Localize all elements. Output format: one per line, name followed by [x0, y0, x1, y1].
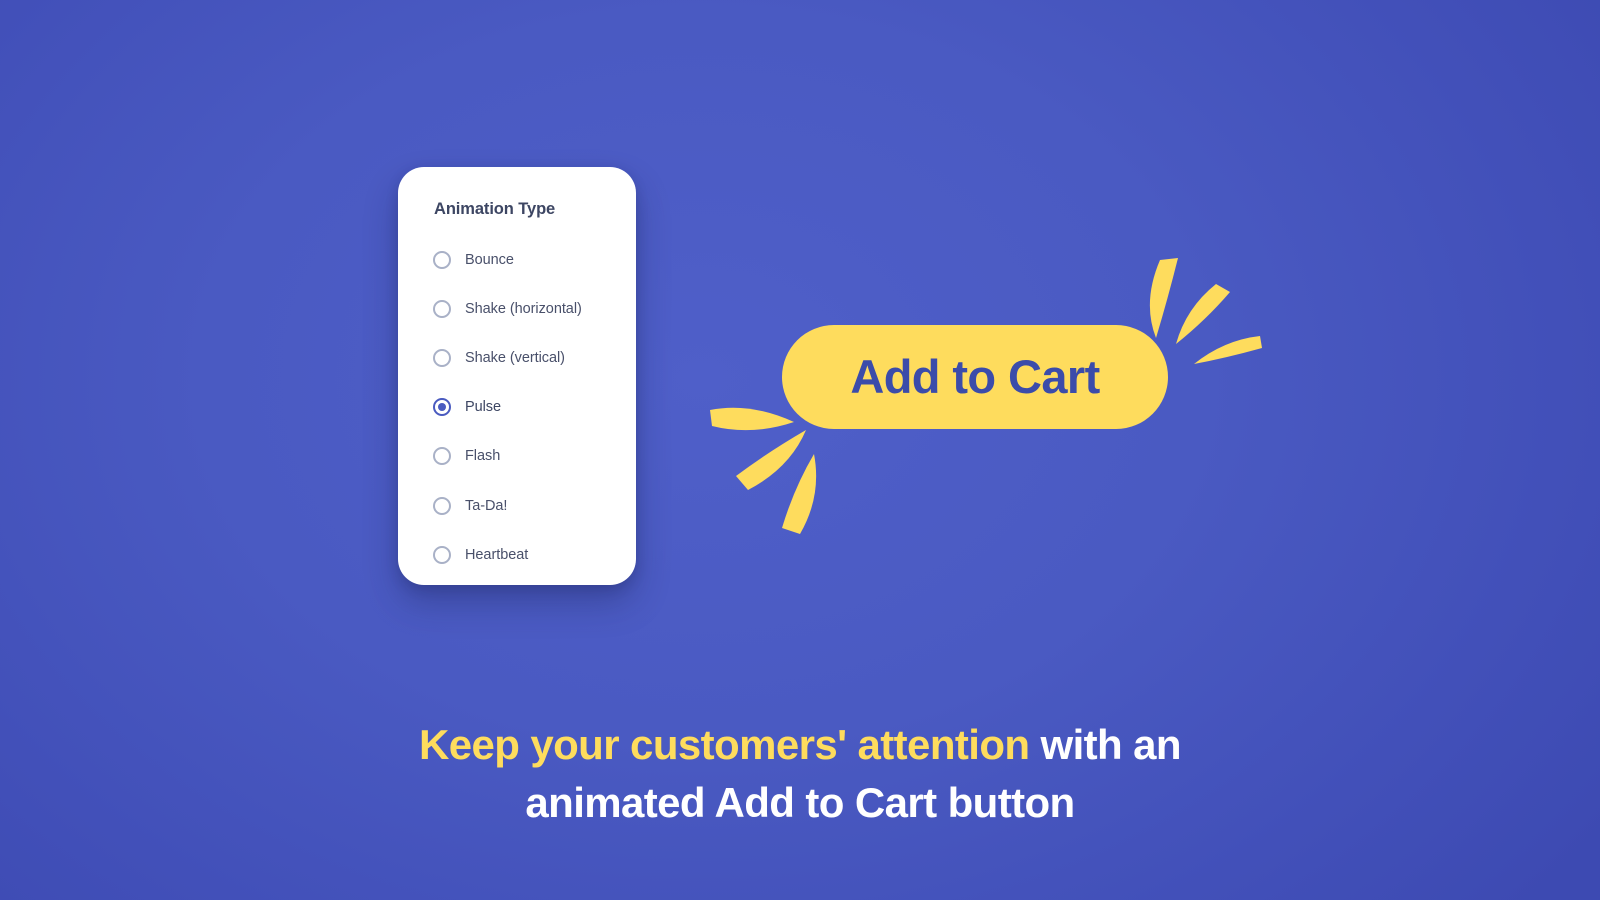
radio-option-label: Shake (horizontal) [465, 301, 582, 317]
headline: Keep your customers' attention with an a… [0, 716, 1600, 832]
cta-group: Add to Cart [690, 240, 1270, 540]
radio-circle-icon[interactable] [433, 497, 451, 515]
radio-option-flash[interactable]: Flash [433, 432, 633, 481]
radio-option-bounce[interactable]: Bounce [433, 235, 633, 284]
promo-banner: Animation Type Bounce Shake (horizontal)… [0, 0, 1600, 900]
radio-option-label: Pulse [465, 399, 501, 415]
radio-option-label: Ta-Da! [465, 498, 507, 514]
radio-option-label: Flash [465, 448, 500, 464]
radio-circle-icon[interactable] [433, 349, 451, 367]
headline-line-one: Keep your customers' attention with an [0, 716, 1600, 774]
radio-option-pulse[interactable]: Pulse [433, 383, 633, 432]
headline-line-two: animated Add to Cart button [0, 774, 1600, 832]
radio-option-ta-da[interactable]: Ta-Da! [433, 481, 633, 530]
radio-option-label: Heartbeat [465, 547, 528, 563]
radio-option-label: Shake (vertical) [465, 350, 565, 366]
headline-rest: with an [1029, 721, 1181, 768]
radio-circle-selected-icon[interactable] [433, 398, 451, 416]
radio-circle-icon[interactable] [433, 300, 451, 318]
radio-option-shake-vertical[interactable]: Shake (vertical) [433, 333, 633, 382]
radio-circle-icon[interactable] [433, 251, 451, 269]
animation-type-radio-group[interactable]: Bounce Shake (horizontal) Shake (vertica… [433, 235, 633, 579]
radio-option-heartbeat[interactable]: Heartbeat [433, 530, 633, 579]
add-to-cart-button[interactable]: Add to Cart [782, 325, 1168, 429]
radio-option-label: Bounce [465, 252, 514, 268]
radio-circle-icon[interactable] [433, 546, 451, 564]
animation-type-card: Animation Type Bounce Shake (horizontal)… [398, 167, 636, 585]
radio-option-shake-horizontal[interactable]: Shake (horizontal) [433, 284, 633, 333]
card-title: Animation Type [434, 200, 555, 219]
headline-accent: Keep your customers' attention [419, 721, 1029, 768]
radio-circle-icon[interactable] [433, 447, 451, 465]
